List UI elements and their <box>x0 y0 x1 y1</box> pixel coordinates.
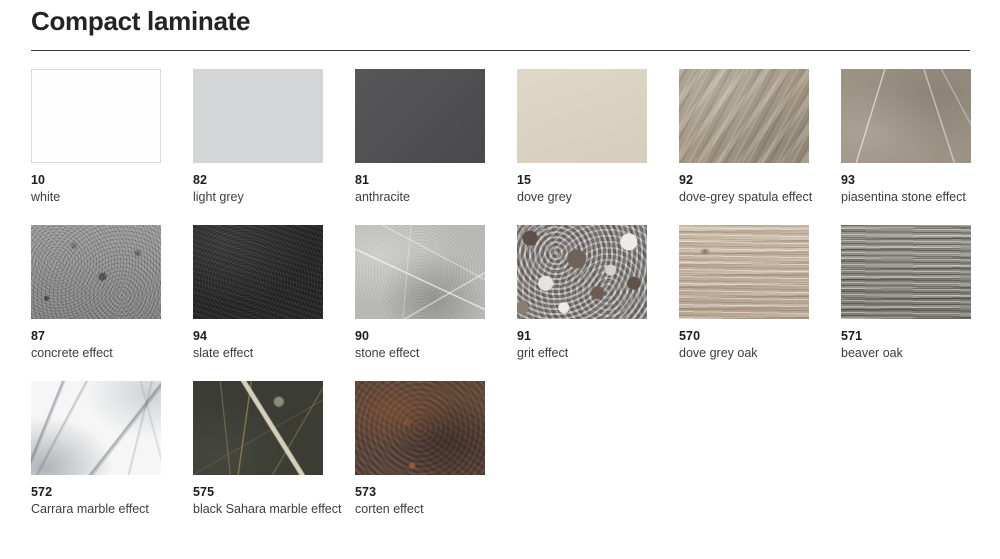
compact-laminate-catalog-page: Compact laminate 10 white 82 l <box>0 0 1000 559</box>
swatch-label-15: 15 dove grey <box>517 172 667 205</box>
swatch-card-87[interactable]: 87 concrete effect <box>31 225 174 361</box>
swatch-name: light grey <box>193 189 343 205</box>
swatch-label-570: 570 dove grey oak <box>679 328 829 361</box>
swatch-image-94[interactable] <box>193 225 323 319</box>
swatch-image-90[interactable] <box>355 225 485 319</box>
swatch-texture-concrete <box>31 225 161 319</box>
swatch-label-82: 82 light grey <box>193 172 343 205</box>
swatch-code: 94 <box>193 328 343 344</box>
swatch-card-93[interactable]: 93 piasentina stone effect <box>841 69 984 205</box>
swatch-code: 15 <box>517 172 667 188</box>
swatch-texture-stone <box>355 225 485 319</box>
swatch-texture-white <box>32 70 160 162</box>
swatch-code: 90 <box>355 328 505 344</box>
swatch-code: 92 <box>679 172 829 188</box>
swatch-card-90[interactable]: 90 stone effect <box>355 225 498 361</box>
swatch-card-92[interactable]: 92 dove-grey spatula effect <box>679 69 822 205</box>
swatch-label-92: 92 dove-grey spatula effect <box>679 172 829 205</box>
swatch-row: 87 concrete effect 94 slate effect 9 <box>31 225 1000 381</box>
swatch-label-87: 87 concrete effect <box>31 328 181 361</box>
swatch-name: grit effect <box>517 345 667 361</box>
swatch-card-10[interactable]: 10 white <box>31 69 174 205</box>
swatch-label-81: 81 anthracite <box>355 172 505 205</box>
swatch-label-10: 10 white <box>31 172 181 205</box>
swatch-card-91[interactable]: 91 grit effect <box>517 225 660 361</box>
swatch-label-572: 572 Carrara marble effect <box>31 484 181 517</box>
swatch-row: 10 white 82 light grey 81 <box>31 69 1000 225</box>
swatch-image-572[interactable] <box>31 381 161 475</box>
swatch-texture-light-grey <box>193 69 323 163</box>
title-divider <box>31 50 970 51</box>
swatch-image-91[interactable] <box>517 225 647 319</box>
swatch-code: 10 <box>31 172 181 188</box>
swatch-label-91: 91 grit effect <box>517 328 667 361</box>
swatch-code: 82 <box>193 172 343 188</box>
swatch-code: 93 <box>841 172 991 188</box>
swatch-card-573[interactable]: 573 corten effect <box>355 381 498 517</box>
swatch-image-93[interactable] <box>841 69 971 163</box>
swatch-texture-black-sahara-marble <box>193 381 323 475</box>
swatch-name: white <box>31 189 181 205</box>
swatch-card-82[interactable]: 82 light grey <box>193 69 336 205</box>
swatch-texture-carrara-marble <box>31 381 161 475</box>
swatch-name: corten effect <box>355 501 505 517</box>
swatch-image-575[interactable] <box>193 381 323 475</box>
swatch-name: piasentina stone effect <box>841 189 991 205</box>
swatch-name: black Sahara marble effect <box>193 501 343 517</box>
swatch-card-94[interactable]: 94 slate effect <box>193 225 336 361</box>
swatch-code: 571 <box>841 328 991 344</box>
swatch-name: beaver oak <box>841 345 991 361</box>
swatch-name: Carrara marble effect <box>31 501 181 517</box>
swatch-code: 91 <box>517 328 667 344</box>
swatch-code: 87 <box>31 328 181 344</box>
swatch-name: concrete effect <box>31 345 181 361</box>
swatch-code: 570 <box>679 328 829 344</box>
swatch-texture-grit <box>517 225 647 319</box>
page-header: Compact laminate <box>31 4 970 51</box>
swatch-card-571[interactable]: 571 beaver oak <box>841 225 984 361</box>
swatch-image-571[interactable] <box>841 225 971 319</box>
swatch-name: dove grey <box>517 189 667 205</box>
swatch-image-81[interactable] <box>355 69 485 163</box>
swatch-card-570[interactable]: 570 dove grey oak <box>679 225 822 361</box>
swatch-texture-dove-grey-oak <box>679 225 809 319</box>
swatch-name: stone effect <box>355 345 505 361</box>
swatch-code: 81 <box>355 172 505 188</box>
swatch-texture-dove-grey-spatula <box>679 69 809 163</box>
swatch-label-571: 571 beaver oak <box>841 328 991 361</box>
swatch-texture-corten <box>355 381 485 475</box>
swatch-image-87[interactable] <box>31 225 161 319</box>
swatch-image-573[interactable] <box>355 381 485 475</box>
swatch-texture-dove-grey <box>517 69 647 163</box>
swatch-name: anthracite <box>355 189 505 205</box>
page-title: Compact laminate <box>31 4 970 42</box>
swatch-texture-anthracite <box>355 69 485 163</box>
swatch-label-575: 575 black Sahara marble effect <box>193 484 343 517</box>
swatch-image-15[interactable] <box>517 69 647 163</box>
swatch-image-82[interactable] <box>193 69 323 163</box>
swatch-image-92[interactable] <box>679 69 809 163</box>
swatch-name: dove grey oak <box>679 345 829 361</box>
swatch-row: 572 Carrara marble effect 575 black Saha… <box>31 381 1000 537</box>
swatch-label-93: 93 piasentina stone effect <box>841 172 991 205</box>
swatch-code: 575 <box>193 484 343 500</box>
swatch-label-573: 573 corten effect <box>355 484 505 517</box>
swatch-texture-piasentina-stone <box>841 69 971 163</box>
swatch-code: 572 <box>31 484 181 500</box>
swatch-label-94: 94 slate effect <box>193 328 343 361</box>
swatch-texture-beaver-oak <box>841 225 971 319</box>
swatch-card-572[interactable]: 572 Carrara marble effect <box>31 381 174 517</box>
swatch-name: slate effect <box>193 345 343 361</box>
swatch-name: dove-grey spatula effect <box>679 189 829 205</box>
swatch-texture-slate <box>193 225 323 319</box>
swatch-label-90: 90 stone effect <box>355 328 505 361</box>
swatch-card-15[interactable]: 15 dove grey <box>517 69 660 205</box>
swatch-image-570[interactable] <box>679 225 809 319</box>
swatch-image-10[interactable] <box>31 69 161 163</box>
swatch-card-81[interactable]: 81 anthracite <box>355 69 498 205</box>
swatch-card-575[interactable]: 575 black Sahara marble effect <box>193 381 336 517</box>
swatch-code: 573 <box>355 484 505 500</box>
swatch-grid: 10 white 82 light grey 81 <box>31 69 1000 537</box>
